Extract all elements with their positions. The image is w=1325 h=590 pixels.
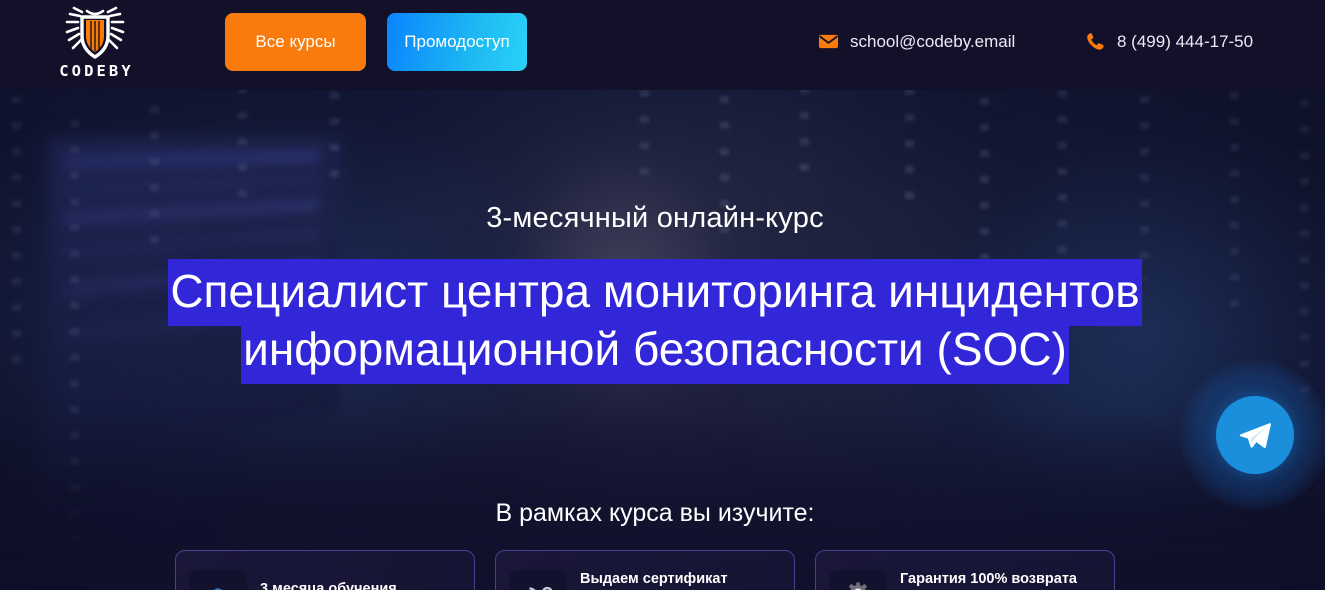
feature-card: 3 месяца обучения с видеоуроками и задан…: [175, 550, 475, 590]
feature-card-text: 3 месяца обучения с видеоуроками и задан…: [260, 580, 462, 590]
feature-card-text: Гарантия 100% возврата средств в первые …: [900, 570, 1102, 590]
hero-section: 3-месячный онлайн-курс Специалист центра…: [0, 90, 1325, 590]
telegram-paper-plane-icon: [1236, 416, 1274, 454]
feature-card-title: 3 месяца обучения: [260, 580, 462, 590]
graduation-cap-icon: [189, 570, 247, 590]
feature-card: $ Гарантия 100% возврата средств в первы…: [815, 550, 1115, 590]
hero-subhead: В рамках курса вы изучите:: [0, 499, 1310, 528]
promo-access-button[interactable]: Промодоступ: [387, 13, 527, 71]
money-back-guarantee-icon: $: [829, 570, 887, 590]
page-title-line-2: информационной безопасности (SOC): [241, 317, 1069, 384]
page-root: CODEBY Все курсы Промодоступ school@code…: [0, 0, 1325, 590]
spider-shield-logo-icon: [62, 6, 128, 62]
contact-phone[interactable]: 8 (499) 444-17-50: [1085, 31, 1253, 52]
feature-cards: 3 месяца обучения с видеоуроками и задан…: [175, 550, 1135, 590]
envelope-icon: [818, 31, 839, 52]
all-courses-button[interactable]: Все курсы: [225, 13, 366, 71]
contact-email-text: school@codeby.email: [850, 32, 1015, 52]
phone-icon: [1085, 31, 1106, 52]
page-title-line-1: Специалист центра мониторинга инцидентов: [168, 259, 1141, 326]
contact-email[interactable]: school@codeby.email: [818, 31, 1015, 52]
logo-wordmark: CODEBY: [56, 64, 134, 80]
telegram-button[interactable]: [1216, 396, 1294, 474]
certificate-rosette-icon: [509, 570, 567, 590]
page-title: Специалист центра мониторинга инцидентов…: [0, 262, 1310, 378]
hero-eyebrow: 3-месячный онлайн-курс: [0, 202, 1310, 235]
feature-card-title: Гарантия 100% возврата: [900, 570, 1102, 589]
telegram-floating-action[interactable]: [1180, 360, 1325, 512]
contact-phone-text: 8 (499) 444-17-50: [1117, 32, 1253, 52]
site-header: CODEBY Все курсы Промодоступ school@code…: [0, 0, 1325, 90]
feature-card-text: Выдаем сертификат после успешной сдачи э…: [580, 570, 782, 590]
feature-card-title: Выдаем сертификат: [580, 570, 782, 589]
hero-content: 3-месячный онлайн-курс Специалист центра…: [0, 90, 1325, 590]
logo[interactable]: CODEBY: [46, 6, 144, 82]
feature-card: Выдаем сертификат после успешной сдачи э…: [495, 550, 795, 590]
